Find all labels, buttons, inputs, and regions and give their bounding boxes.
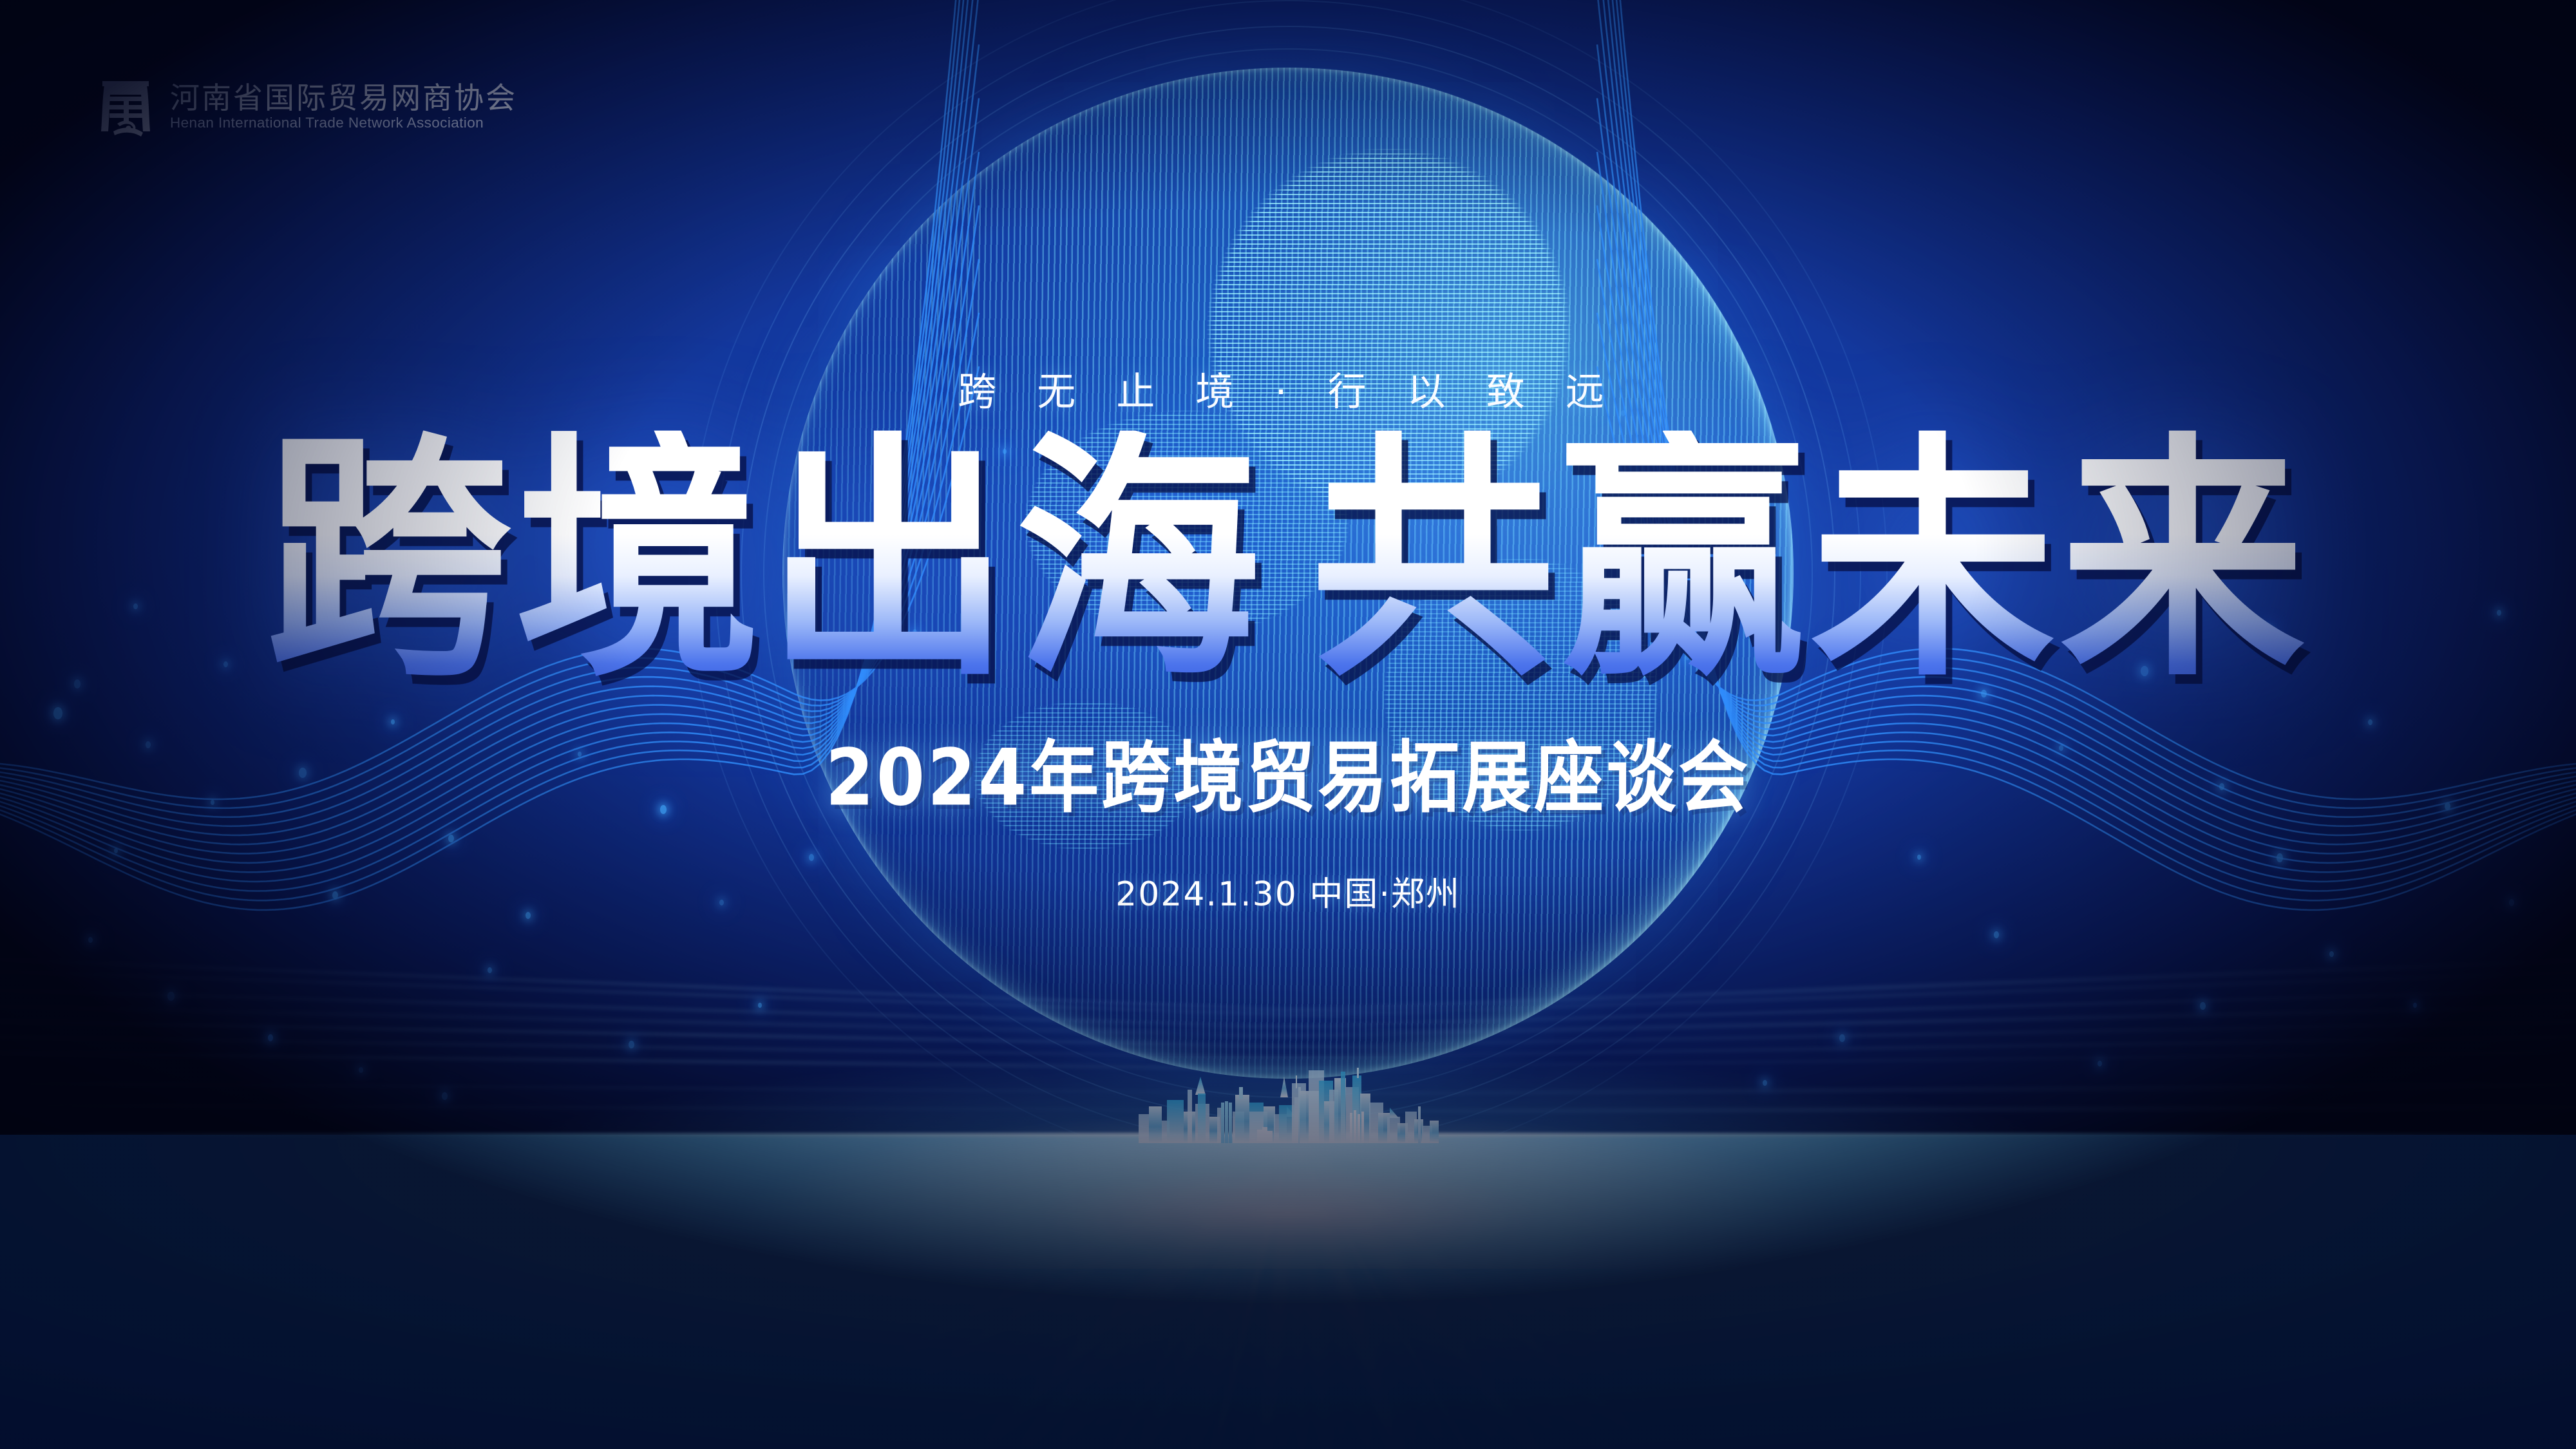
radial-light-rays-icon bbox=[0, 1135, 2576, 1449]
logo-text-block: 河南省国际贸易网商协会 Henan International Trade Ne… bbox=[170, 82, 517, 131]
event-subtitle: 2024年跨境贸易拓展座谈会 bbox=[0, 740, 2576, 818]
particle-dot bbox=[268, 1034, 273, 1041]
emblem-svg bbox=[98, 76, 153, 138]
particle-dot bbox=[2098, 1061, 2102, 1066]
poster-canvas: 河南省国际贸易网商协会 Henan International Trade Ne… bbox=[0, 0, 2576, 1449]
particle-dot bbox=[442, 1092, 448, 1100]
particle-dot bbox=[2368, 719, 2372, 725]
main-title: 跨境出海共赢未来 bbox=[0, 431, 2576, 690]
org-name-cn: 河南省国际贸易网商协会 bbox=[170, 82, 517, 114]
city-skyline-icon bbox=[1133, 1030, 1443, 1143]
main-title-left: 跨境出海 bbox=[266, 409, 1265, 712]
particle-dot bbox=[167, 992, 175, 1001]
particle-dot bbox=[359, 1067, 363, 1073]
particle-dot bbox=[391, 719, 395, 724]
particle-dot bbox=[629, 1041, 634, 1048]
association-logo: 河南省国际贸易网商协会 Henan International Trade Ne… bbox=[98, 76, 517, 138]
city-svg bbox=[1133, 1030, 1443, 1143]
seal-script-emblem-icon bbox=[98, 76, 153, 138]
main-title-right: 共赢未来 bbox=[1311, 409, 2310, 712]
particle-dot bbox=[53, 707, 62, 719]
particle-dot bbox=[2413, 1003, 2417, 1008]
particle-dot bbox=[1917, 855, 1921, 860]
particle-dot bbox=[488, 967, 492, 973]
particle-dot bbox=[2329, 951, 2334, 957]
particle-dot bbox=[114, 848, 118, 853]
particle-dot bbox=[2200, 1002, 2206, 1010]
particle-dot bbox=[2277, 853, 2283, 862]
org-name-en: Henan International Trade Network Associ… bbox=[170, 115, 517, 131]
particle-dot bbox=[88, 937, 93, 943]
particle-dot bbox=[1994, 931, 1999, 938]
particle-dot bbox=[448, 835, 454, 842]
event-meta: 2024.1.30 中国·郑州 bbox=[0, 867, 2576, 915]
